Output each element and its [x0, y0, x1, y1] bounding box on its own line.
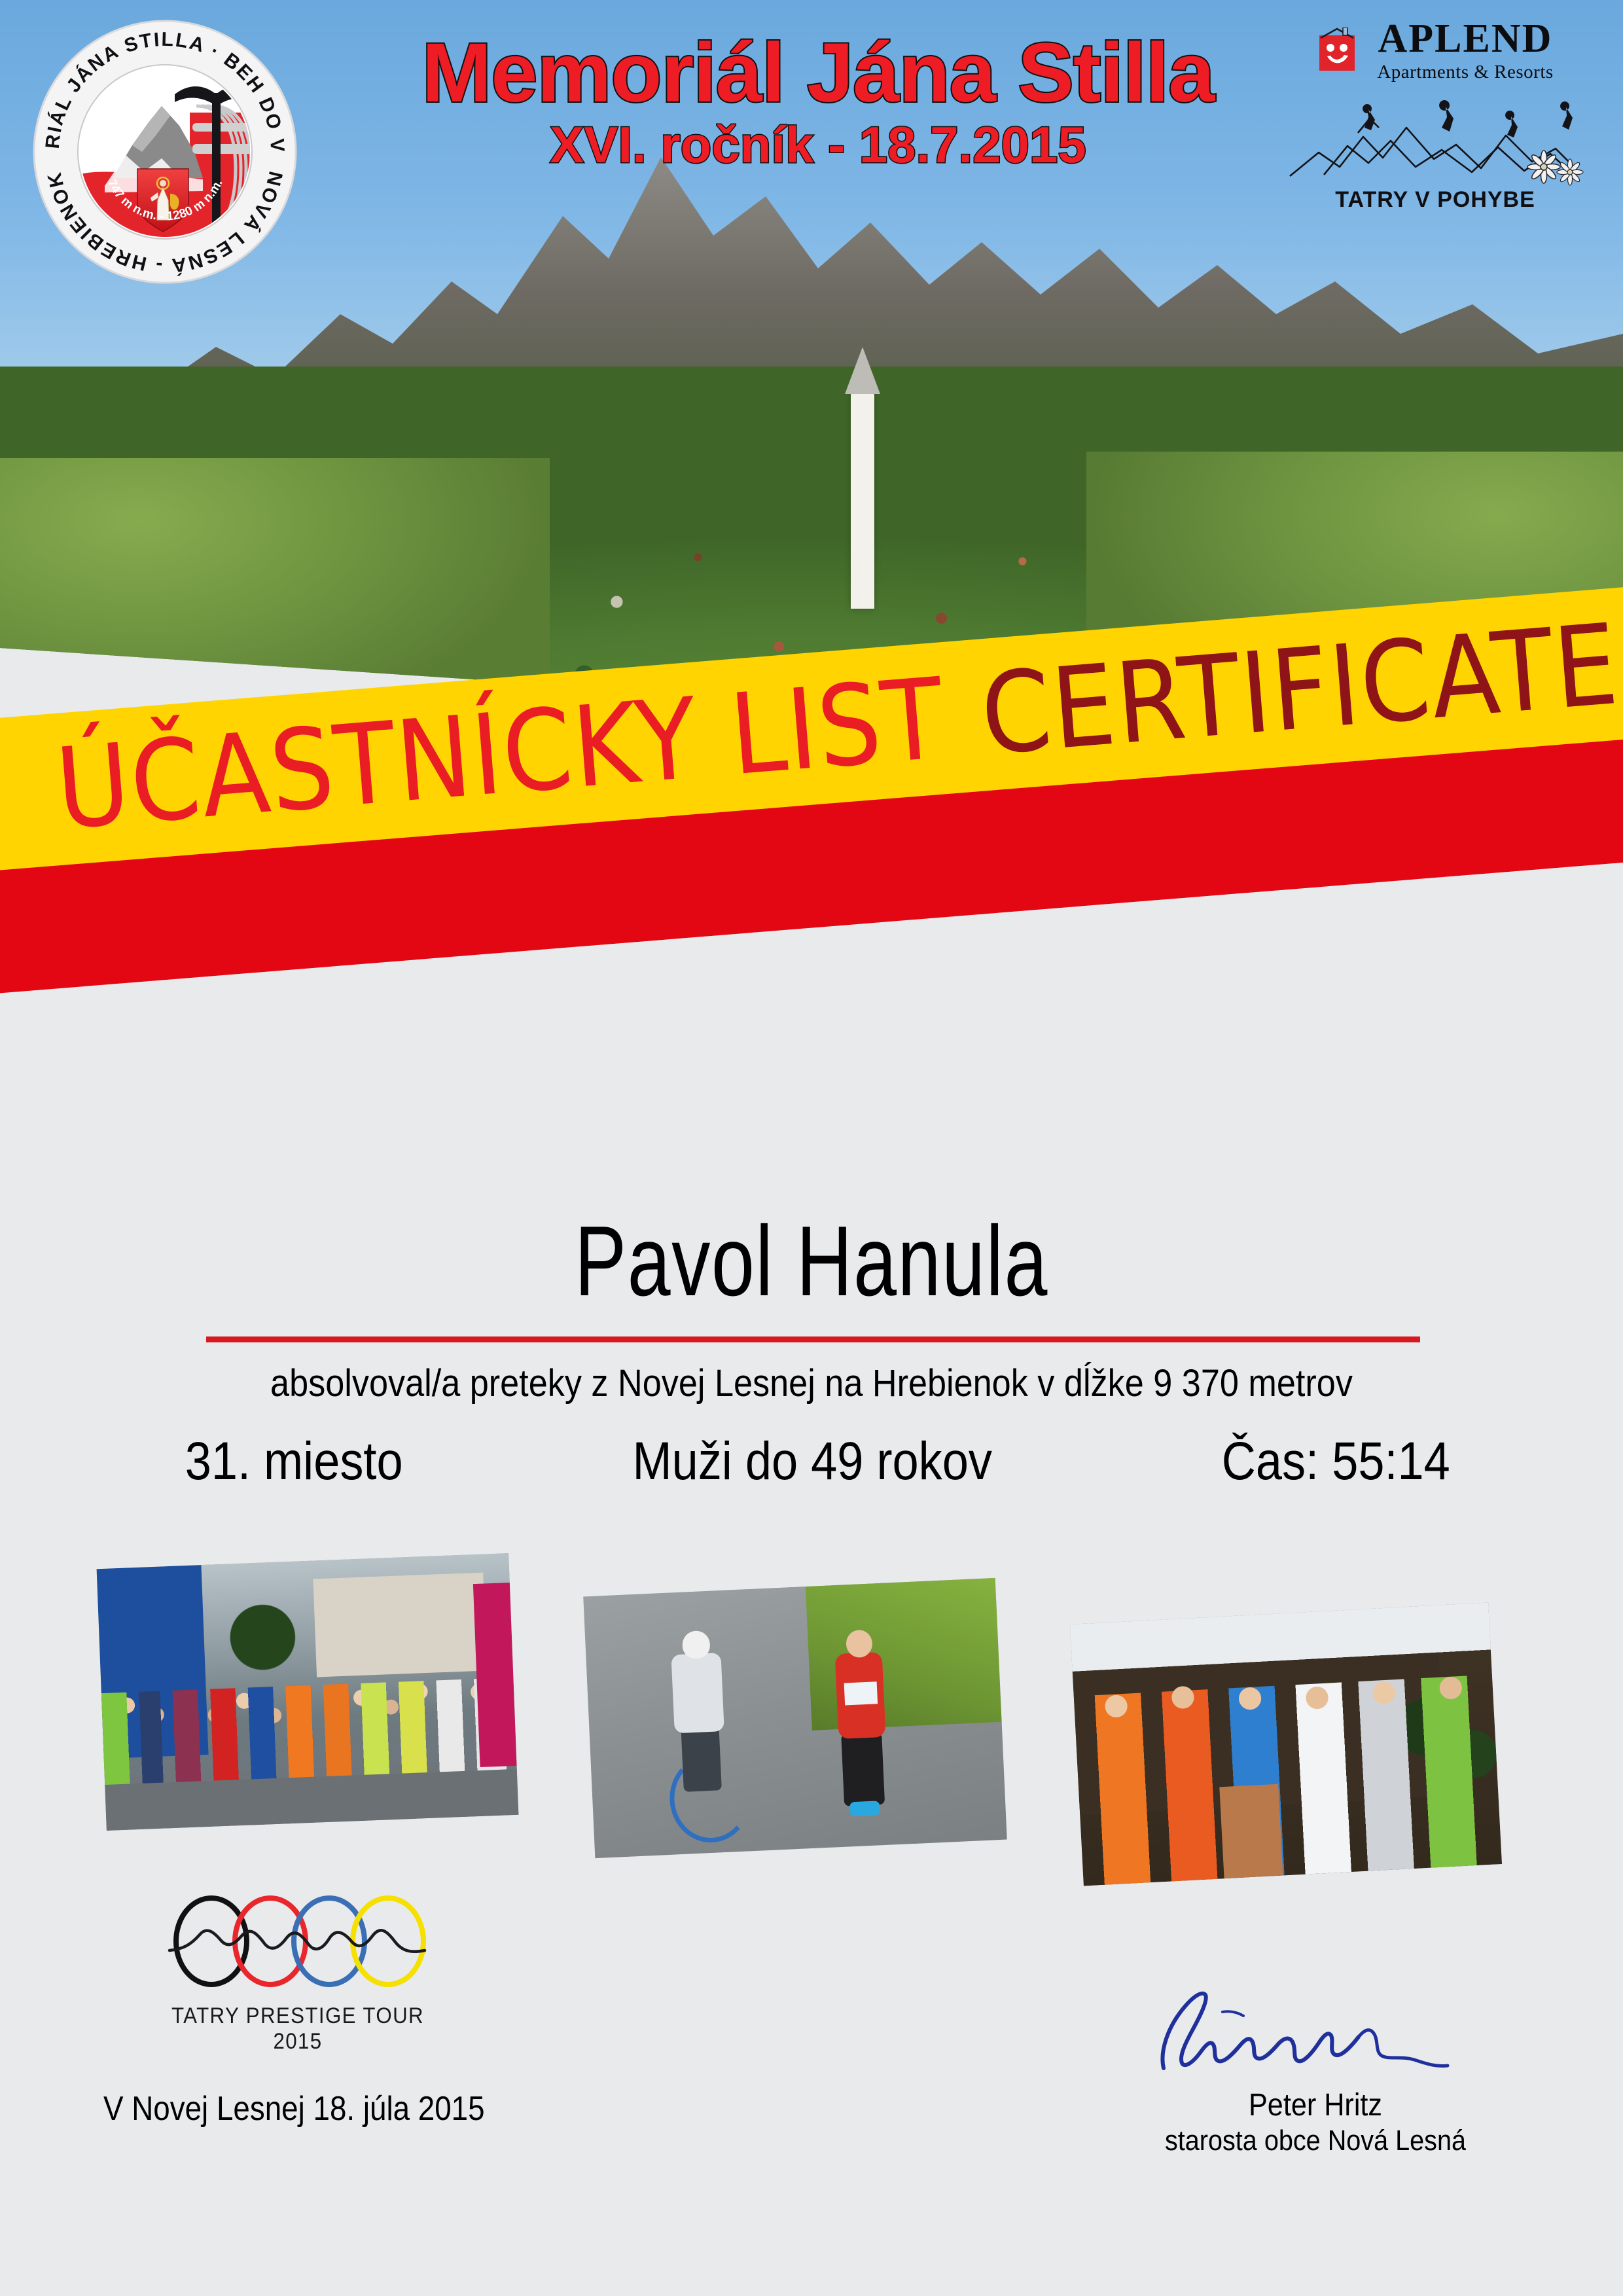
tatry-mountain-sketch-icon	[1285, 90, 1586, 188]
signature-block: Peter Hritz starosta obce Nová Lesná	[1106, 1983, 1525, 2157]
aplend-logo: APLEND Apartments & Resorts	[1281, 18, 1589, 83]
sponsor-logos: APLEND Apartments & Resorts	[1281, 18, 1589, 213]
course-photo-runner-shoe	[849, 1801, 880, 1816]
event-emblem: MEMORIÁL JÁNA STILLA · BEH DO VRCHU NOVÁ…	[27, 14, 302, 289]
course-photo-runner-legs	[841, 1732, 885, 1806]
course-photo-cyclist-helmet	[682, 1630, 711, 1659]
result-time: Čas: 55:14	[1222, 1431, 1450, 1492]
issue-place-and-date: V Novej Lesnej 18. júla 2015	[103, 2089, 485, 2128]
event-title-sub: XVI. ročník - 18.7.2015	[386, 119, 1250, 170]
tatry-prestige-tour-logo: TATRY PRESTIGE TOUR 2015	[151, 1890, 445, 2054]
course-photo-runner-bib	[844, 1681, 878, 1705]
tatry-v-pohybe-wordmark: TATRY V POHYBE	[1281, 187, 1589, 213]
course-photo-cyclist-legs	[681, 1725, 721, 1792]
event-title-block: Memoriál Jána Stilla XVI. ročník - 18.7.…	[386, 31, 1250, 170]
course-photo-grass	[806, 1578, 1002, 1731]
aplend-wordmark: APLEND	[1377, 18, 1553, 59]
tatry-v-pohybe-logo: TATRY V POHYBE	[1281, 90, 1589, 213]
start-photo-sponsor-banner	[473, 1583, 517, 1767]
recipient-block: Pavol Hanula	[0, 1204, 1623, 1319]
award-ceremony-photo	[1070, 1603, 1502, 1886]
course-photo-cyclist-body	[671, 1653, 724, 1733]
race-start-photo	[97, 1553, 519, 1831]
signer-role: starosta obce Nová Lesná	[1127, 2125, 1504, 2157]
result-summary-row: 31. miesto Muži do 49 rokov Čas: 55:14	[170, 1431, 1466, 1492]
name-underline-rule	[206, 1336, 1420, 1342]
achievement-text: absolvoval/a preteky z Novej Lesnej na H…	[81, 1361, 1542, 1405]
result-category: Muži do 49 rokov	[632, 1431, 991, 1492]
signer-name: Peter Hritz	[1127, 2087, 1504, 2123]
aplend-house-smile-icon	[1317, 27, 1366, 75]
award-photo-trophy	[1219, 1784, 1283, 1879]
result-place: 31. miesto	[185, 1431, 403, 1492]
prestige-tour-rings-icon	[160, 1890, 435, 1995]
aplend-tagline: Apartments & Resorts	[1377, 62, 1553, 83]
event-title-main: Memoriál Jána Stilla	[386, 31, 1250, 115]
handwritten-signature-icon	[1145, 1983, 1486, 2081]
recipient-name: Pavol Hanula	[179, 1204, 1444, 1319]
church-tower-icon	[851, 393, 874, 609]
tour-logo-caption: TATRY PRESTIGE TOUR 2015	[162, 2003, 433, 2054]
race-course-photo	[583, 1578, 1007, 1858]
